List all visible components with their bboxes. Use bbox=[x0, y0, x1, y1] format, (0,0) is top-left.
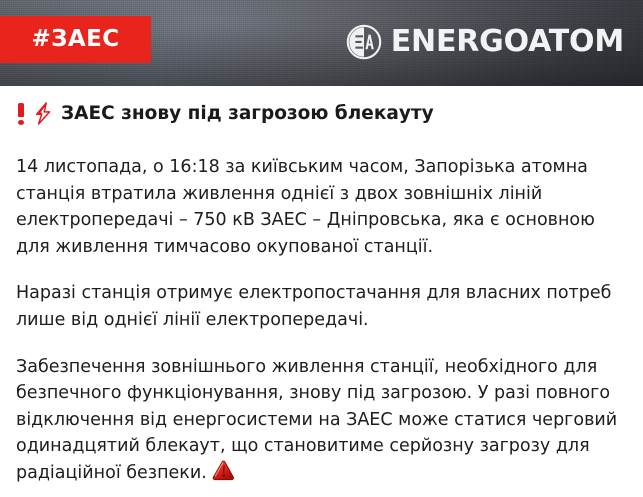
warning-triangle-emoji bbox=[211, 460, 235, 491]
high-voltage-emoji bbox=[33, 102, 54, 128]
headline: ЗАЕС знову під загрозою блекауту bbox=[16, 102, 627, 128]
headline-text: ЗАЕС знову під загрозою блекауту bbox=[61, 102, 434, 125]
brand-name: ENERGOATOM bbox=[391, 27, 624, 57]
energoatom-circle-logo bbox=[346, 24, 382, 60]
article-body: ЗАЕС знову під загрозою блекауту 14 лист… bbox=[0, 86, 643, 491]
header-banner: #ЗАЕС ENERGOATOM bbox=[0, 0, 643, 86]
telegram-post-card: #ЗАЕС ENERGOATOM bbox=[0, 0, 643, 497]
hashtag-badge[interactable]: #ЗАЕС bbox=[0, 16, 151, 63]
paragraph-3-text: Забезпечення зовнішнього живлення станці… bbox=[16, 357, 617, 483]
hashtag-badge-label: #ЗАЕС bbox=[31, 28, 119, 51]
brand-lockup: ENERGOATOM bbox=[346, 21, 624, 63]
paragraph-2: Наразі станція отримує електропостачання… bbox=[16, 280, 627, 333]
paragraph-3: Забезпечення зовнішнього живлення станці… bbox=[16, 354, 627, 491]
paragraph-1: 14 листопада, о 16:18 за київським часом… bbox=[16, 154, 627, 260]
exclamation-mark-emoji bbox=[16, 102, 26, 127]
